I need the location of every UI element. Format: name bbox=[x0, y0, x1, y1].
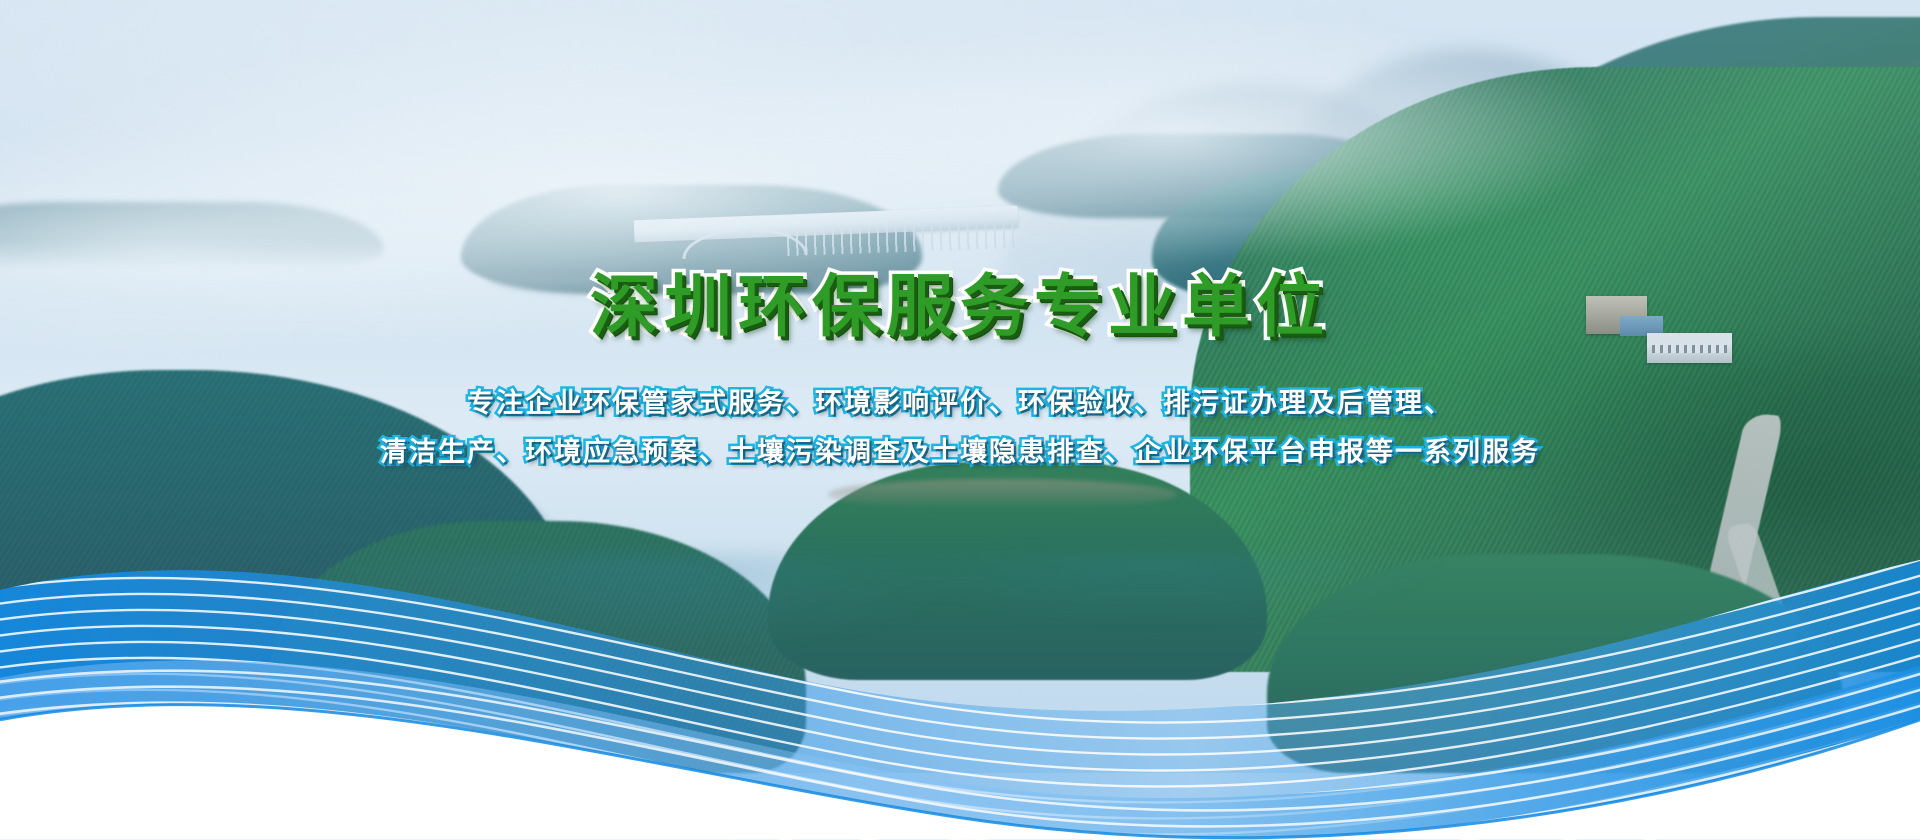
banner-subtitle-line-2: 清洁生产、环境应急预案、土壤污染调查及土壤隐患排查、企业环保平台申报等一系列服务 bbox=[380, 430, 1540, 469]
hero-banner: 深圳环保服务专业单位 专注企业环保管家式服务、环境影响评价、环保验收、排污证办理… bbox=[0, 0, 1920, 840]
banner-subtitle-line-1: 专注企业环保管家式服务、环境影响评价、环保验收、排污证办理及后管理、 bbox=[467, 381, 1453, 420]
banner-text-block: 深圳环保服务专业单位 专注企业环保管家式服务、环境影响评价、环保验收、排污证办理… bbox=[0, 0, 1920, 840]
banner-headline: 深圳环保服务专业单位 bbox=[590, 272, 1330, 343]
banner-subtitle-group: 专注企业环保管家式服务、环境影响评价、环保验收、排污证办理及后管理、 清洁生产、… bbox=[380, 381, 1540, 469]
